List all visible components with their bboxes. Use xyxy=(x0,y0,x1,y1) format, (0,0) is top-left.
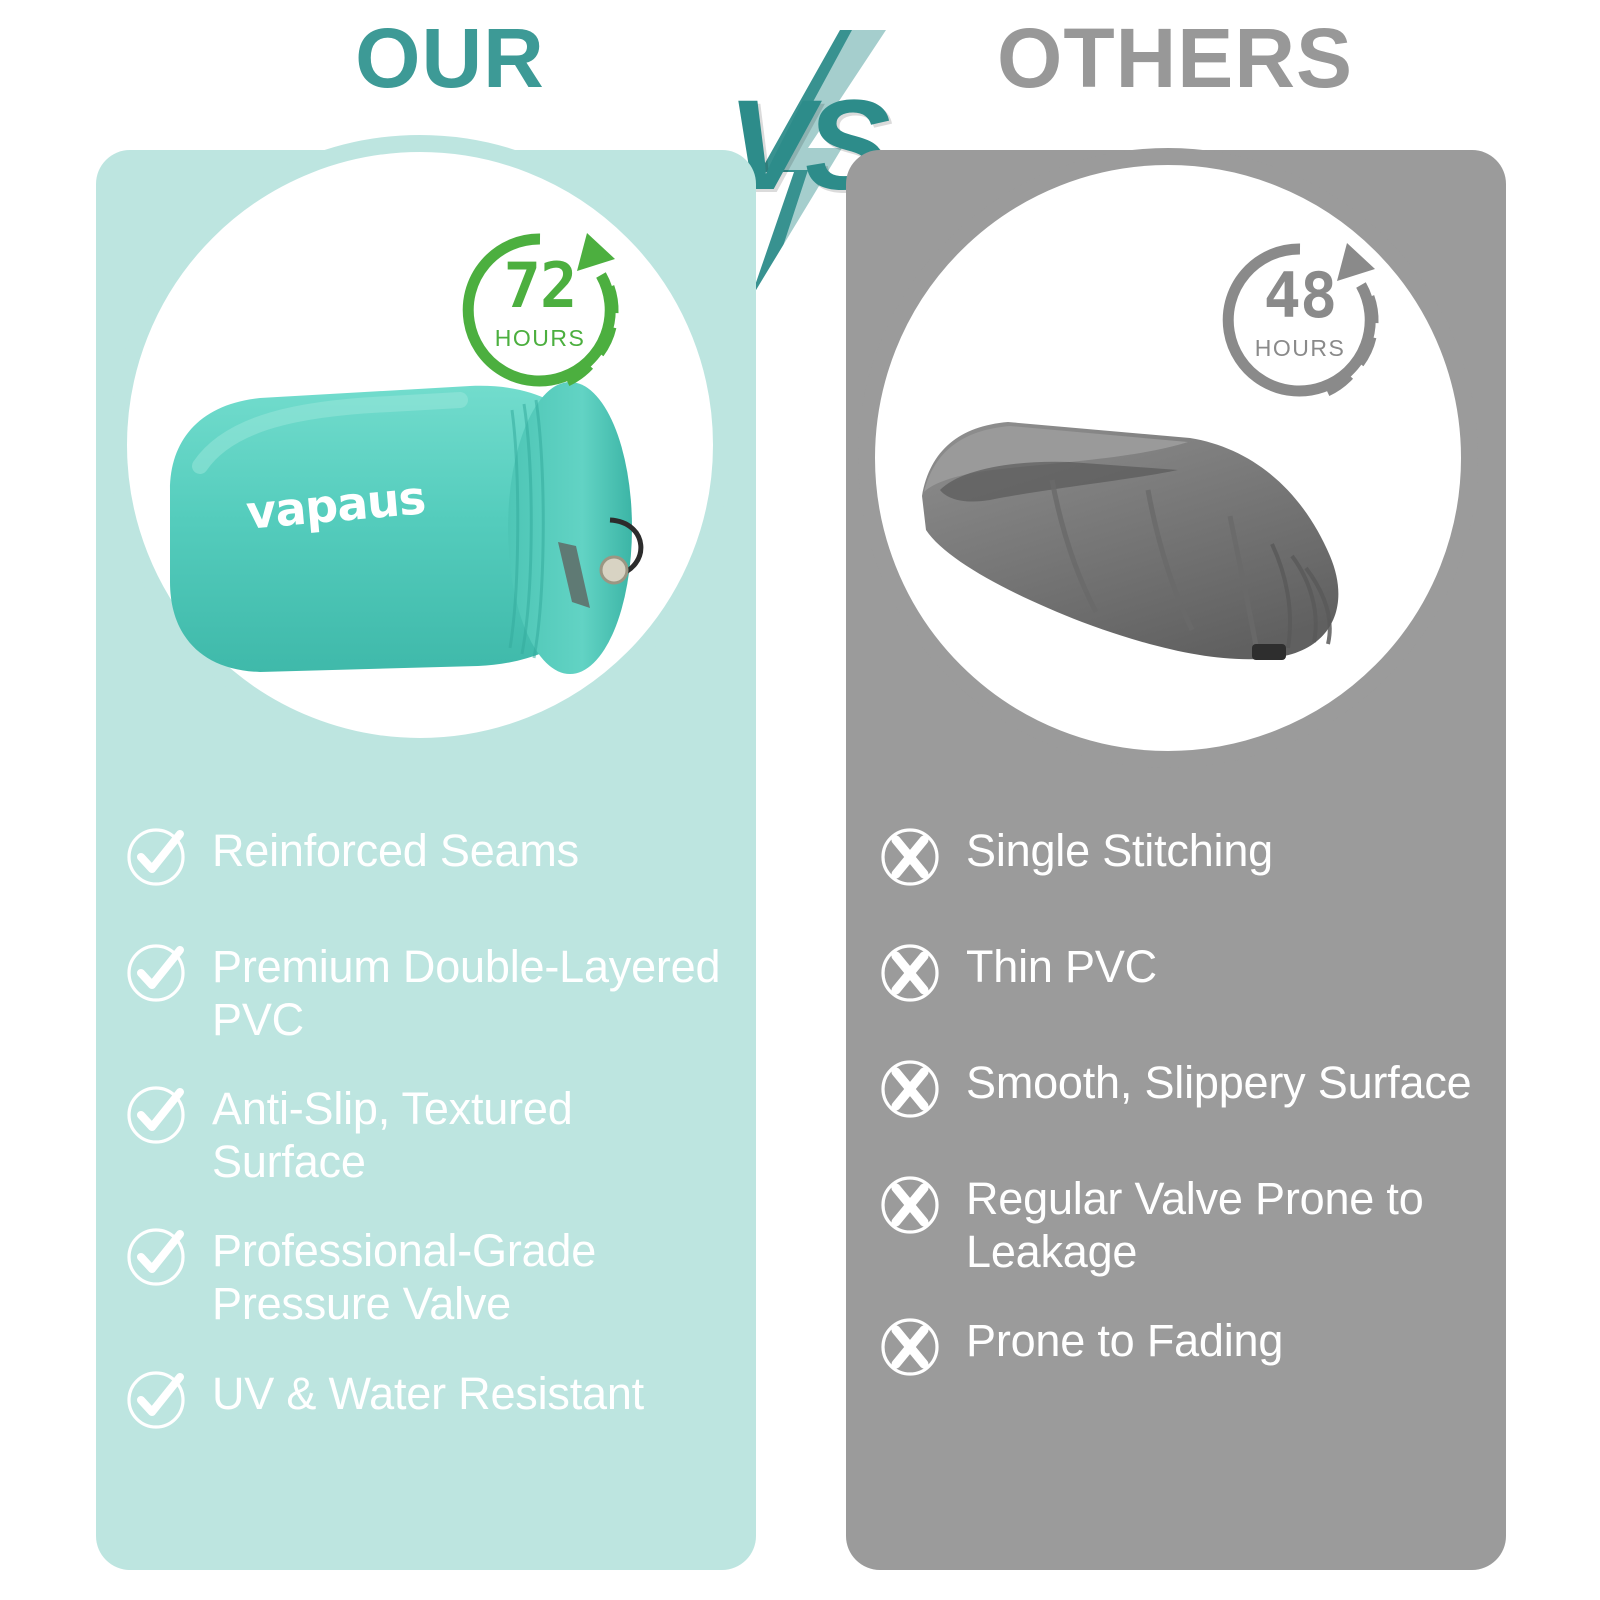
duration-value: 72 xyxy=(455,255,625,317)
check-circle-icon xyxy=(124,940,188,1004)
list-item: Prone to Fading xyxy=(878,1312,1478,1394)
feature-label: Regular Valve Prone to Leakage xyxy=(966,1170,1478,1278)
duration-badge-others: 48 HOURS xyxy=(1215,235,1385,405)
check-circle-icon xyxy=(124,1082,188,1146)
list-item: Anti-Slip, Textured Surface xyxy=(124,1080,724,1188)
inflatable-air-roller-image xyxy=(140,370,700,690)
list-item: Premium Double-Layered PVC xyxy=(124,938,724,1046)
duration-unit: HOURS xyxy=(1215,335,1385,362)
feature-label: Single Stitching xyxy=(966,822,1273,877)
x-circle-icon xyxy=(878,824,942,888)
feature-label: Smooth, Slippery Surface xyxy=(966,1054,1471,1109)
feature-label: Reinforced Seams xyxy=(212,822,579,877)
page-title-others: OTHERS xyxy=(960,16,1390,100)
feature-list-our: Reinforced Seams Premium Double-Layered … xyxy=(124,822,724,1481)
feature-label: Prone to Fading xyxy=(966,1312,1283,1367)
feature-label: Professional-Grade Pressure Valve xyxy=(212,1222,724,1330)
x-circle-icon xyxy=(878,1172,942,1236)
list-item: Regular Valve Prone to Leakage xyxy=(878,1170,1478,1278)
feature-label: Premium Double-Layered PVC xyxy=(212,938,724,1046)
duration-badge-our: 72 HOURS xyxy=(455,225,625,395)
list-item: Thin PVC xyxy=(878,938,1478,1020)
feature-label: Thin PVC xyxy=(966,938,1157,993)
x-circle-icon xyxy=(878,940,942,1004)
list-item: Reinforced Seams xyxy=(124,822,724,904)
duration-unit: HOURS xyxy=(455,325,625,352)
feature-list-others: Single Stitching Thin PVC Smooth, Slippe… xyxy=(878,822,1478,1428)
duration-value: 48 xyxy=(1215,265,1385,327)
check-circle-icon xyxy=(124,1224,188,1288)
feature-label: Anti-Slip, Textured Surface xyxy=(212,1080,724,1188)
page-title-our: OUR xyxy=(300,16,600,100)
x-circle-icon xyxy=(878,1314,942,1378)
list-item: Smooth, Slippery Surface xyxy=(878,1054,1478,1136)
list-item: Single Stitching xyxy=(878,822,1478,904)
list-item: UV & Water Resistant xyxy=(124,1365,724,1447)
check-circle-icon xyxy=(124,824,188,888)
x-circle-icon xyxy=(878,1056,942,1120)
list-item: Professional-Grade Pressure Valve xyxy=(124,1222,724,1330)
check-circle-icon xyxy=(124,1367,188,1431)
feature-label: UV & Water Resistant xyxy=(212,1365,644,1420)
